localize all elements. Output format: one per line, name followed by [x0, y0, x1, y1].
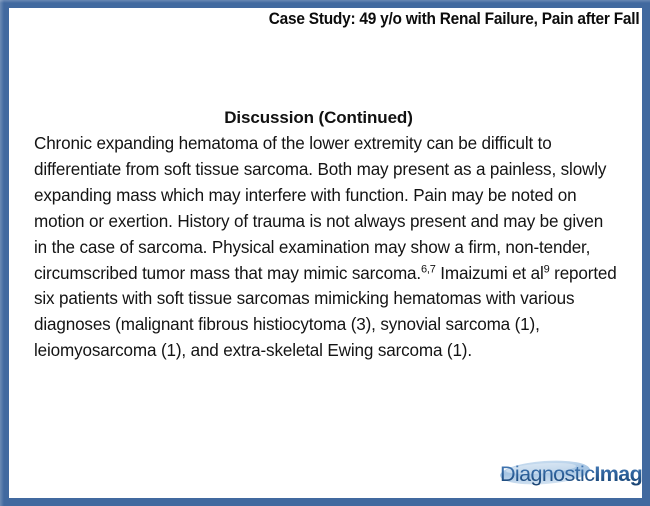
- slide-container: Case Study: 49 y/o with Renal Failure, P…: [0, 0, 650, 506]
- section-heading: Discussion (Continued): [34, 107, 619, 129]
- case-study-title: Case Study: 49 y/o with Renal Failure, P…: [268, 8, 639, 30]
- citation-ref-6-7: 6,7: [421, 263, 436, 275]
- logo-word-imaging: Imaging: [594, 462, 642, 486]
- discussion-paragraph: Chronic expanding hematoma of the lower …: [34, 131, 619, 364]
- logo-word-diagnostic: Diagnostic: [500, 462, 595, 486]
- logo-artwork: DiagnosticImaging: [497, 455, 642, 493]
- diagnostic-imaging-logo: DiagnosticImaging: [497, 455, 642, 493]
- logo-wordmark: DiagnosticImaging: [500, 462, 642, 486]
- paragraph-text-part-1: Chronic expanding hematoma of the lower …: [34, 134, 606, 283]
- slide-header: Case Study: 49 y/o with Renal Failure, P…: [9, 8, 642, 32]
- paragraph-text-part-2: Imaizumi et al: [436, 264, 544, 283]
- discussion-body: Discussion (Continued) Chronic expanding…: [34, 107, 619, 364]
- slide-content-area: Case Study: 49 y/o with Renal Failure, P…: [9, 8, 642, 498]
